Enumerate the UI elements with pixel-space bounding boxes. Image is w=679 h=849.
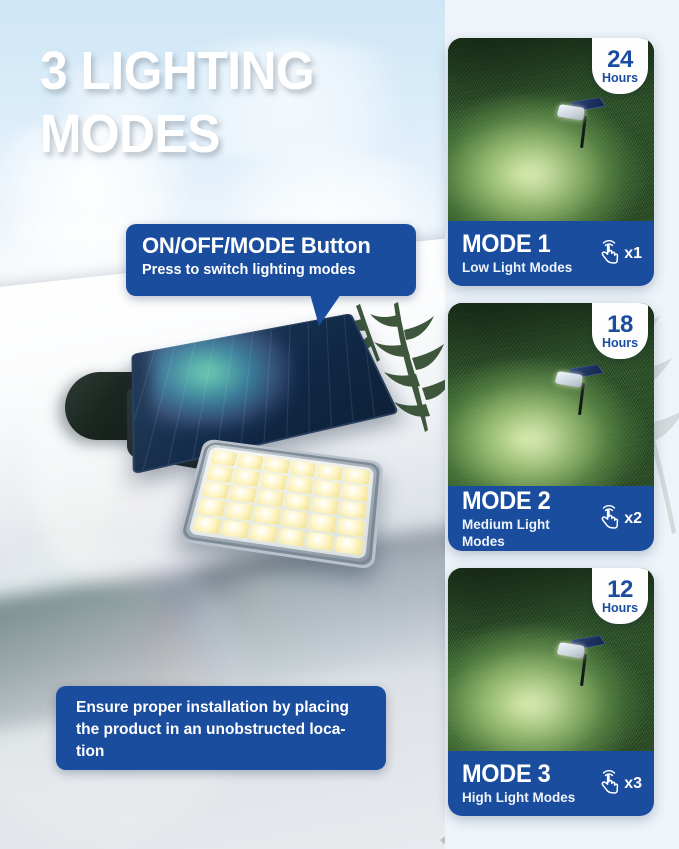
card-photo: 18 Hours — [448, 303, 654, 486]
hand-tap-icon — [596, 769, 622, 799]
hours-unit: Hours — [602, 71, 638, 85]
mode-card[interactable]: 24 Hours MODE 1 Low Light Modes x1 — [448, 38, 654, 286]
callout-title: ON/OFF/MODE Button — [142, 233, 402, 259]
hand-tap-icon — [596, 504, 622, 534]
tap-indicator: x2 — [596, 504, 642, 534]
mode-title: MODE 3 — [462, 761, 588, 787]
tap-count: x1 — [624, 245, 642, 263]
tap-indicator: x3 — [596, 769, 642, 799]
hours-badge: 18 Hours — [592, 303, 648, 359]
tap-count: x2 — [624, 510, 642, 528]
card-photo: 12 Hours — [448, 568, 654, 751]
callout-subtitle: Press to switch lighting modes — [142, 260, 402, 280]
lamp-led-head — [557, 104, 585, 120]
callout-note-text: Ensure proper installation by placing th… — [76, 697, 368, 763]
hours-number: 12 — [607, 578, 633, 602]
mode-subtitle: High Light Modes — [462, 789, 596, 806]
mode-subtitle: Medium Light Modes — [462, 516, 596, 550]
lamp-led-head — [555, 371, 583, 387]
lamp-stake — [580, 654, 587, 686]
led-head — [177, 438, 384, 569]
tap-count: x3 — [624, 775, 642, 793]
card-footer: MODE 3 High Light Modes x3 — [448, 751, 654, 816]
mode-card[interactable]: 18 Hours MODE 2 Medium Light Modes x2 — [448, 303, 654, 551]
infographic-canvas: 3 LIGHTING MODES ON/OFF/MODE Button Pres… — [0, 0, 679, 849]
headline-line-2: MODES — [40, 103, 399, 166]
solar-light-icon — [558, 96, 606, 148]
solar-light-icon — [556, 363, 604, 415]
callout-pointer-tail — [310, 294, 341, 326]
card-footer-text: MODE 2 Medium Light Modes — [462, 488, 596, 550]
tap-indicator: x1 — [596, 239, 642, 269]
card-footer-text: MODE 1 Low Light Modes — [462, 231, 596, 276]
mode-title: MODE 2 — [462, 488, 588, 514]
lamp-led-head — [557, 642, 585, 658]
hours-number: 18 — [607, 313, 633, 337]
lamp-stake — [578, 383, 585, 415]
hours-unit: Hours — [602, 601, 638, 615]
hours-badge: 12 Hours — [592, 568, 648, 624]
card-footer: MODE 2 Medium Light Modes x2 — [448, 486, 654, 551]
card-photo: 24 Hours — [448, 38, 654, 221]
mode-card[interactable]: 12 Hours MODE 3 High Light Modes x3 — [448, 568, 654, 816]
headline-line-1: 3 LIGHTING — [40, 40, 399, 103]
card-footer-text: MODE 3 High Light Modes — [462, 761, 596, 806]
mode-title: MODE 1 — [462, 231, 588, 257]
lamp-stake — [580, 116, 587, 148]
card-footer: MODE 1 Low Light Modes x1 — [448, 221, 654, 286]
solar-wall-light-photo — [55, 300, 415, 600]
mode-subtitle: Low Light Modes — [462, 259, 596, 276]
callout-mode-button: ON/OFF/MODE Button Press to switch light… — [126, 224, 416, 296]
page-title: 3 LIGHTING MODES — [40, 40, 399, 166]
hand-tap-icon — [596, 239, 622, 269]
hours-unit: Hours — [602, 336, 638, 350]
hours-number: 24 — [607, 48, 633, 72]
hours-badge: 24 Hours — [592, 38, 648, 94]
callout-installation-note: Ensure proper installation by placing th… — [56, 686, 386, 770]
solar-light-icon — [558, 634, 606, 686]
